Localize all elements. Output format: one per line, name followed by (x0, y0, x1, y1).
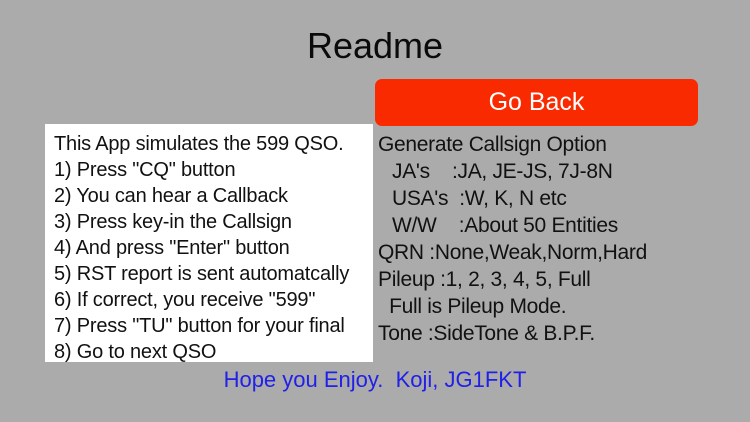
options-line: Full is Pileup Mode. (378, 293, 708, 320)
options-line: JA's :JA, JE-JS, 7J-8N (378, 158, 708, 185)
instructions-line: This App simulates the 599 QSO. (54, 131, 373, 157)
instructions-line: 2) You can hear a Callback (54, 183, 373, 209)
footer-credit: Hope you Enjoy. Koji, JG1FKT (0, 366, 750, 394)
instructions-line: 8) Go to next QSO (54, 339, 373, 365)
readme-screen: Readme Go Back This App simulates the 59… (0, 0, 750, 422)
instructions-line: 6) If correct, you receive "599" (54, 287, 373, 313)
instructions-line: 1) Press "CQ" button (54, 157, 373, 183)
instructions-line: 5) RST report is sent automatcally (54, 261, 373, 287)
options-line: W/W :About 50 Entities (378, 212, 708, 239)
instructions-line: 3) Press key-in the Callsign (54, 209, 373, 235)
instructions-line: 7) Press "TU" button for your final (54, 313, 373, 339)
options-panel: Generate Callsign Option JA's :JA, JE-JS… (378, 131, 708, 347)
options-line: Pileup :1, 2, 3, 4, 5, Full (378, 266, 708, 293)
instructions-panel: This App simulates the 599 QSO. 1) Press… (45, 124, 373, 362)
options-line: USA's :W, K, N etc (378, 185, 708, 212)
page-title: Readme (0, 24, 750, 68)
options-line: Tone :SideTone & B.P.F. (378, 320, 708, 347)
instructions-line: 4) And press "Enter" button (54, 235, 373, 261)
options-line: Generate Callsign Option (378, 131, 708, 158)
options-line: QRN :None,Weak,Norm,Hard (378, 239, 708, 266)
go-back-button[interactable]: Go Back (375, 79, 698, 126)
